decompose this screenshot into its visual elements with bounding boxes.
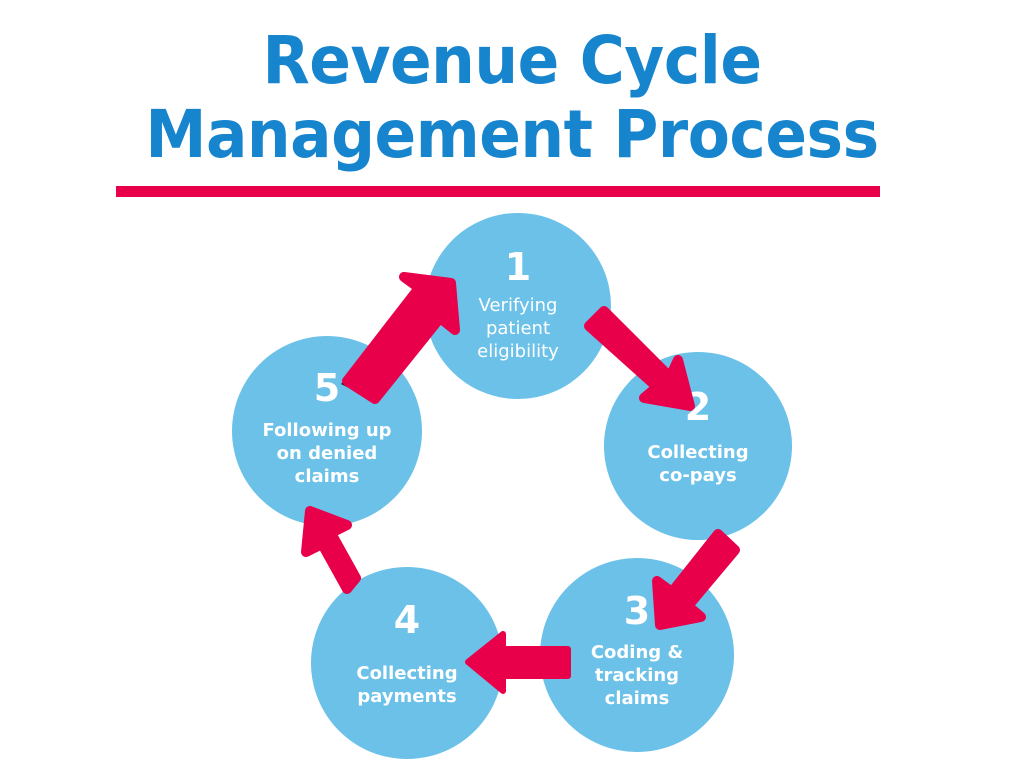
stage-1-label: Verifying patient eligibility [463, 294, 573, 363]
page-title: Revenue Cycle Management Process [0, 24, 1024, 172]
title-line-2: Management Process [36, 98, 988, 172]
stage-3-number: 3 [624, 591, 650, 631]
stage-4-label: Collecting payments [342, 662, 471, 708]
stage-3-label: Coding & tracking claims [577, 641, 697, 710]
infographic-canvas: Revenue Cycle Management Process 1 Verif… [0, 0, 1024, 768]
stage-1-number: 1 [505, 247, 531, 287]
stage-4-number: 4 [394, 600, 420, 640]
title-line-1: Revenue Cycle [36, 24, 988, 98]
title-underline-rule [116, 186, 880, 197]
stage-2-label: Collecting co-pays [633, 441, 762, 487]
arrow-4-to-5-body [306, 511, 356, 589]
stage-5-number: 5 [314, 368, 340, 408]
stage-5-label: Following up on denied claims [248, 419, 405, 488]
cycle-stage-2[interactable]: 2 Collecting co-pays [604, 352, 792, 540]
arrow-4-to-5 [306, 511, 356, 589]
